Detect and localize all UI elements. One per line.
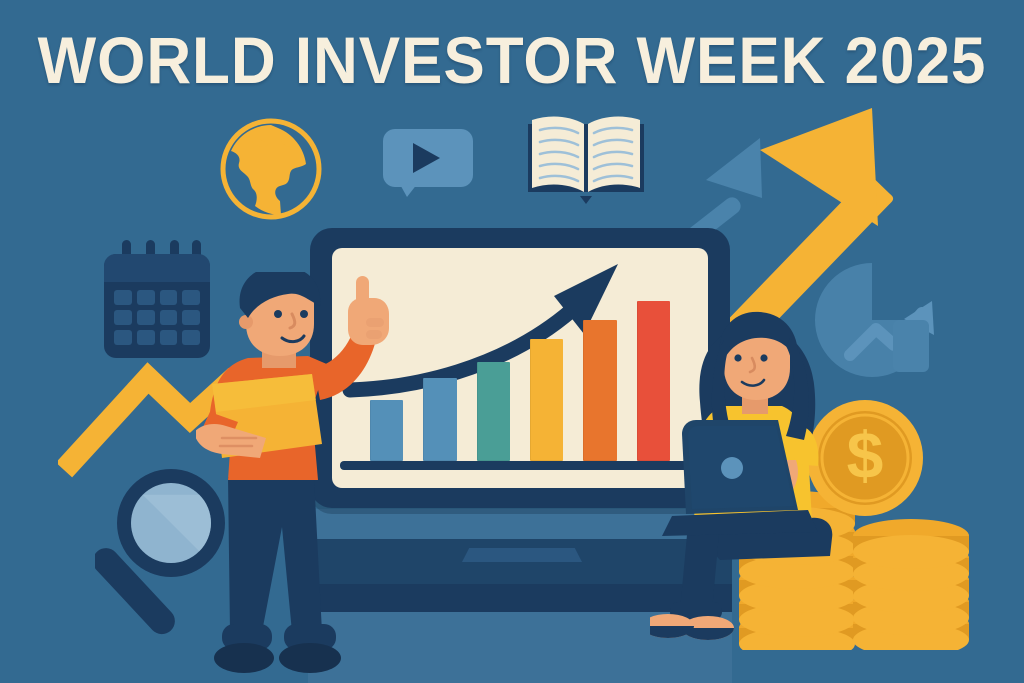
calendar-header: [104, 254, 210, 282]
page-title: WORLD INVESTOR WEEK 2025: [31, 22, 994, 98]
monitor-stand-plate: [462, 548, 582, 562]
calendar-icon: [104, 240, 210, 358]
chart-bar: [423, 378, 456, 461]
open-book-icon: [524, 112, 648, 204]
poster-canvas: WORLD INVESTOR WEEK 2025: [0, 0, 1024, 683]
chart-bar: [583, 320, 616, 461]
man-presenter: [196, 272, 406, 683]
video-play-bubble-icon: [383, 129, 473, 195]
chart-bar: [530, 339, 563, 461]
woman-investor: [650, 310, 890, 650]
calendar-day-grid: [114, 290, 200, 345]
globe-icon: [219, 117, 323, 221]
bubble-tail: [397, 179, 421, 197]
chart-bar: [477, 362, 510, 461]
play-triangle-icon: [413, 143, 440, 173]
